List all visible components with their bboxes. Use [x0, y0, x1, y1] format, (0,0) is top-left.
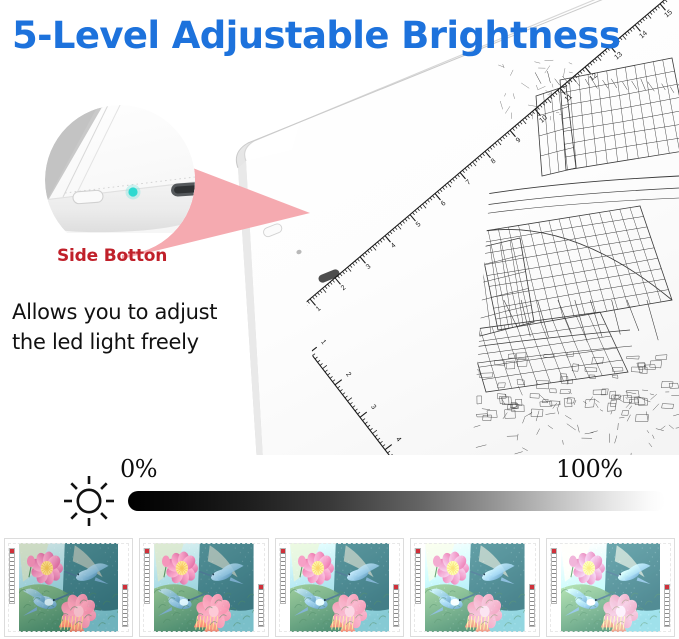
thumbnail-right-ruler: [258, 584, 264, 627]
power-button-zoom: [73, 190, 104, 204]
thumbnail-inner: [279, 543, 400, 632]
brightness-level-thumbnails: [0, 538, 679, 639]
brightness-gradient-bar[interactable]: [128, 491, 665, 511]
thumbnail-left-ruler: [280, 548, 286, 603]
feature-description: Allows you to adjust the led light freel…: [12, 297, 272, 357]
thumbnail-inner: [143, 543, 264, 632]
diamond-painting-art: [425, 543, 525, 632]
thumbnail-right-ruler: [122, 584, 128, 627]
thumbnail-inner: [8, 543, 129, 632]
sun-brightness-icon: [62, 474, 116, 528]
brightness-thumbnail[interactable]: [275, 538, 404, 637]
page-title: 5-Level Adjustable Brightness: [12, 14, 652, 57]
brightness-thumbnail[interactable]: [4, 538, 133, 637]
brightness-max-label: 100%: [556, 455, 623, 483]
thumbnail-left-ruler: [144, 548, 150, 603]
brightness-thumbnail[interactable]: [546, 538, 675, 637]
diamond-painting-art: [561, 543, 661, 632]
thumbnail-right-ruler: [664, 584, 670, 627]
side-button-label: Side Botton: [57, 246, 167, 266]
diamond-painting-art: [19, 543, 119, 632]
thumbnail-inner: [550, 543, 671, 632]
side-button-magnifier: [45, 105, 195, 255]
thumbnail-right-ruler: [529, 584, 535, 627]
thumbnail-left-ruler: [551, 548, 557, 603]
thumbnail-right-ruler: [393, 584, 399, 627]
brightness-scale: 0% 100%: [0, 452, 679, 530]
feature-description-line-2: the led light freely: [12, 327, 272, 357]
diamond-painting-art: [290, 543, 390, 632]
thumbnail-left-ruler: [9, 548, 15, 603]
thumbnail-inner: [414, 543, 535, 632]
thumbnail-left-ruler: [415, 548, 421, 603]
brightness-min-label: 0%: [120, 455, 157, 483]
product-feature-poster: 0123456789101112131415 0123456: [0, 0, 679, 639]
brightness-thumbnail[interactable]: [410, 538, 539, 637]
brightness-thumbnail[interactable]: [139, 538, 268, 637]
feature-description-line-1: Allows you to adjust: [12, 297, 272, 327]
diamond-painting-art: [154, 543, 254, 632]
